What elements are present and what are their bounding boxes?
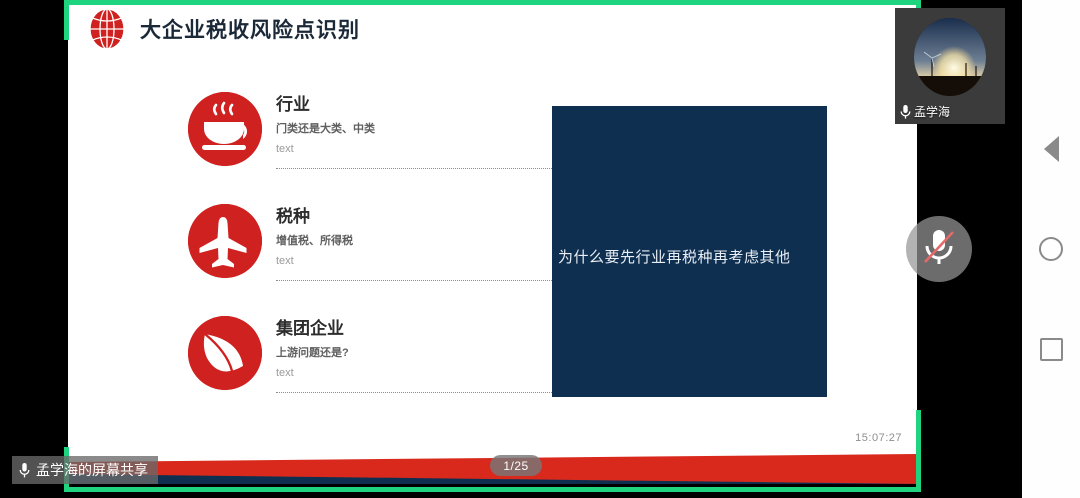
list-item-subtitle: 上游问题还是? bbox=[276, 344, 349, 363]
screen-share-viewport: 大企业税收风险点识别 bbox=[0, 0, 1080, 498]
recents-square-icon[interactable] bbox=[1038, 336, 1064, 362]
home-circle-icon[interactable] bbox=[1038, 236, 1064, 262]
callout-box[interactable]: 为什么要先行业再税种再考虑其他 bbox=[552, 106, 827, 397]
list-item-note: text bbox=[276, 365, 349, 382]
microphone-muted-icon bbox=[922, 227, 956, 272]
list-item-heading: 行业 bbox=[276, 94, 375, 116]
microphone-icon bbox=[899, 104, 912, 120]
participant-name-row: 孟学海 bbox=[899, 103, 950, 120]
microphone-icon bbox=[18, 462, 31, 478]
participant-name: 孟学海 bbox=[914, 103, 950, 120]
list-item-heading: 集团企业 bbox=[276, 318, 349, 340]
coffee-cup-icon bbox=[188, 92, 262, 166]
screen-share-label: 孟学海的屏幕共享 bbox=[12, 456, 158, 484]
avatar bbox=[914, 18, 986, 96]
participant-video-thumbnail[interactable]: 孟学海 bbox=[895, 8, 1005, 124]
slide-title-row: 大企业税收风险点识别 bbox=[88, 8, 360, 50]
list-item-subtitle: 增值税、所得税 bbox=[276, 232, 353, 251]
callout-text: 为什么要先行业再税种再考虑其他 bbox=[558, 246, 828, 267]
list-item-subtitle: 门类还是大类、中类 bbox=[276, 120, 375, 139]
page-indicator: 1/25 bbox=[490, 455, 542, 476]
back-triangle-icon[interactable] bbox=[1038, 136, 1064, 162]
leaf-icon bbox=[188, 316, 262, 390]
mute-button[interactable] bbox=[906, 216, 972, 282]
list-item-note: text bbox=[276, 253, 353, 270]
android-navigation-bar bbox=[1022, 0, 1080, 498]
list-item-note: text bbox=[276, 141, 375, 158]
list-item-text: 税种 增值税、所得税 text bbox=[276, 206, 353, 270]
list-item-text: 行业 门类还是大类、中类 text bbox=[276, 94, 375, 158]
globe-icon bbox=[88, 8, 126, 50]
list-item-text: 集团企业 上游问题还是? text bbox=[276, 318, 349, 382]
airplane-icon bbox=[188, 204, 262, 278]
list-item-heading: 税种 bbox=[276, 206, 353, 228]
page-indicator-text: 1/25 bbox=[503, 459, 528, 473]
page-title: 大企业税收风险点识别 bbox=[140, 14, 360, 44]
screen-share-label-text: 孟学海的屏幕共享 bbox=[36, 460, 148, 480]
shared-slide[interactable]: 大企业税收风险点识别 bbox=[68, 0, 917, 484]
